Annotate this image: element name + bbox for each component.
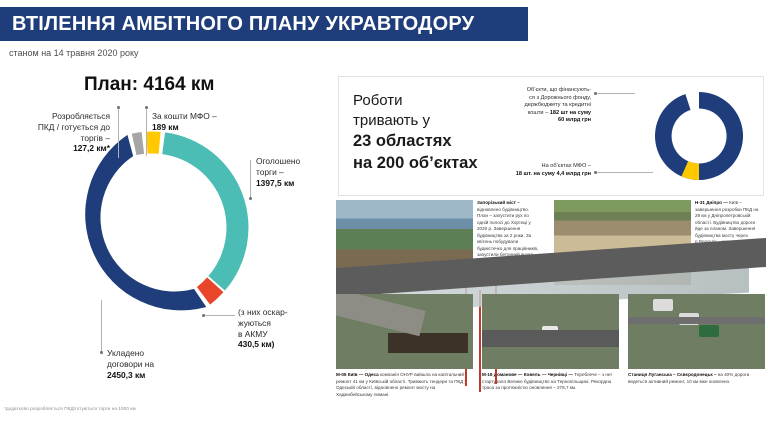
works-donut-svg xyxy=(649,86,749,186)
photo-m19-domanove-kovel-chernivtsi xyxy=(482,294,619,369)
caption-title-4: Станиця Луганська – Сєвєродонецьк – xyxy=(628,372,716,377)
plan-title: План: 4164 км xyxy=(84,74,215,96)
donut-slice-mfo xyxy=(144,130,163,156)
works-label-mfo-l1: На об’єктах МФО – xyxy=(439,163,591,171)
caption-text-1: Київ – завершення розробки ПКД на 29 км … xyxy=(695,200,758,244)
works-dot-mfo xyxy=(594,171,597,174)
photo-n31-dnipro-kyiv xyxy=(554,200,691,285)
photo-stanytsia-luhanska xyxy=(628,294,765,369)
label-mfo-value: 189 км xyxy=(152,122,179,132)
marker-dot-mfo xyxy=(145,106,148,109)
leader-line-tenders xyxy=(250,160,251,198)
marker-dot-tenders xyxy=(249,197,252,200)
label-contracts-line2: договори на xyxy=(107,359,217,370)
label-tenders-line2: торги – xyxy=(256,167,346,178)
works-card: Роботи тривають у 23 областях на 200 об’… xyxy=(338,76,764,196)
label-mfo-line1: За кошти МФО – xyxy=(152,111,262,122)
donut-slice-tenders xyxy=(159,123,257,297)
label-tenders-line1: Оголошено xyxy=(256,156,346,167)
label-tenders: Оголошено торги – 1397,5 км xyxy=(256,156,346,188)
label-pkd-line1: Розробляється xyxy=(10,111,110,122)
project-cards-row-bottom: М-05 Київ — Одеса компанія ОНУР вийшла н… xyxy=(336,294,766,398)
label-contracts: Укладено договори на 2450,3 км xyxy=(107,348,217,380)
project-cards: Запорізький міст –відновлено будівництво… xyxy=(336,200,766,422)
label-pkd-line2: ПКД / готується до xyxy=(10,122,110,133)
marker-dot-akmu xyxy=(202,314,205,317)
label-akmu-line3: в АКМУ xyxy=(238,329,328,340)
works-label-budget: Об’єкти, що фінансують- ся з Дорожнього … xyxy=(439,87,591,125)
plan-footnote: *додатково розробляється ПКД/готуються т… xyxy=(4,406,136,411)
works-dot-budget xyxy=(594,92,597,95)
label-akmu-value: 430,5 км) xyxy=(238,339,274,349)
card-stanytsia-luhanska[interactable]: Станиця Луганська – Сєвєродонецьк – на 4… xyxy=(628,294,765,398)
caption-m19-domanove-kovel-chernivtsi: М-19 Доманове — Ковель — Чернівці — Тере… xyxy=(482,372,615,392)
caption-stanytsia-luhanska: Станиця Луганська – Сєвєродонецьк – на 4… xyxy=(628,372,761,385)
page-title: ВТІЛЕННЯ АМБІТНОГО ПЛАНУ УКРАВТОДОРУ xyxy=(0,13,474,36)
caption-title-1: Н-31 Дніпро — xyxy=(695,200,728,205)
project-cards-row-top: Запорізький міст –відновлено будівництво… xyxy=(336,200,766,285)
header-bar: ВТІЛЕННЯ АМБІТНОГО ПЛАНУ УКРАВТОДОРУ xyxy=(0,7,528,41)
caption-title-2: М-05 Київ — Одеса xyxy=(336,372,379,377)
works-label-budget-l4: кошти – xyxy=(528,110,550,116)
label-contracts-value: 2450,3 км xyxy=(107,370,145,380)
label-pkd: Розробляється ПКД / готується до торгів … xyxy=(10,111,110,154)
donut-slice-pkd xyxy=(132,132,145,155)
works-label-mfo: На об’єктах МФО – 18 шт. на суму 4,4 млр… xyxy=(439,163,591,178)
card-m05-kyiv-odesa[interactable]: М-05 Київ — Одеса компанія ОНУР вийшла н… xyxy=(336,294,473,398)
photo-m05-kyiv-odesa xyxy=(336,294,473,369)
label-contracts-line1: Укладено xyxy=(107,348,217,359)
leader-line-contracts xyxy=(101,300,102,352)
works-label-budget-l2: ся з Дорожнього фонду, xyxy=(439,95,591,103)
leader-line-pkd xyxy=(118,108,119,158)
label-tenders-value: 1397,5 км xyxy=(256,178,294,188)
marker-dot-pkd xyxy=(117,106,120,109)
works-leader-mfo xyxy=(597,172,653,173)
label-akmu-line2: жуються xyxy=(238,318,328,329)
label-pkd-value: 127,2 км* xyxy=(73,143,110,153)
marker-dot-contracts xyxy=(100,351,103,354)
works-label-budget-v2: 60 млрд грн xyxy=(558,117,591,123)
leader-line-mfo xyxy=(146,108,147,156)
card-m19-domanove-kovel-chernivtsi[interactable]: М-19 Доманове — Ковель — Чернівці — Тере… xyxy=(482,294,619,398)
caption-text-0: відновлено будівництво. План – запустити… xyxy=(477,207,538,258)
works-label-mfo-v1: 18 шт. на суму 4,4 млрд грн xyxy=(516,171,591,177)
works-label-budget-v1: 182 шт на суму xyxy=(550,110,591,116)
works-leader-budget xyxy=(597,93,635,94)
label-akmu: (з них оскар- жуються в АКМУ 430,5 км) xyxy=(238,307,328,350)
label-mfo: За кошти МФО – 189 км xyxy=(152,111,262,133)
works-donut-chart xyxy=(649,86,749,186)
works-line3: 23 областях xyxy=(353,131,478,153)
label-pkd-line3: торгів – xyxy=(10,133,110,144)
label-akmu-line1: (з них оскар- xyxy=(238,307,328,318)
caption-title-3: М-19 Доманове — Ковель — Чернівці — xyxy=(482,372,573,377)
works-label-budget-l1: Об’єкти, що фінансують- xyxy=(439,87,591,95)
caption-title-0: Запорізький міст – xyxy=(477,200,520,205)
works-slice-budget xyxy=(655,92,743,180)
header-subtitle: станом на 14 травня 2020 року xyxy=(9,48,139,58)
works-label-budget-l3: держбюджету та кредитні xyxy=(439,102,591,110)
leader-line-akmu xyxy=(203,315,235,316)
caption-m05-kyiv-odesa: М-05 Київ — Одеса компанія ОНУР вийшла н… xyxy=(336,372,469,398)
